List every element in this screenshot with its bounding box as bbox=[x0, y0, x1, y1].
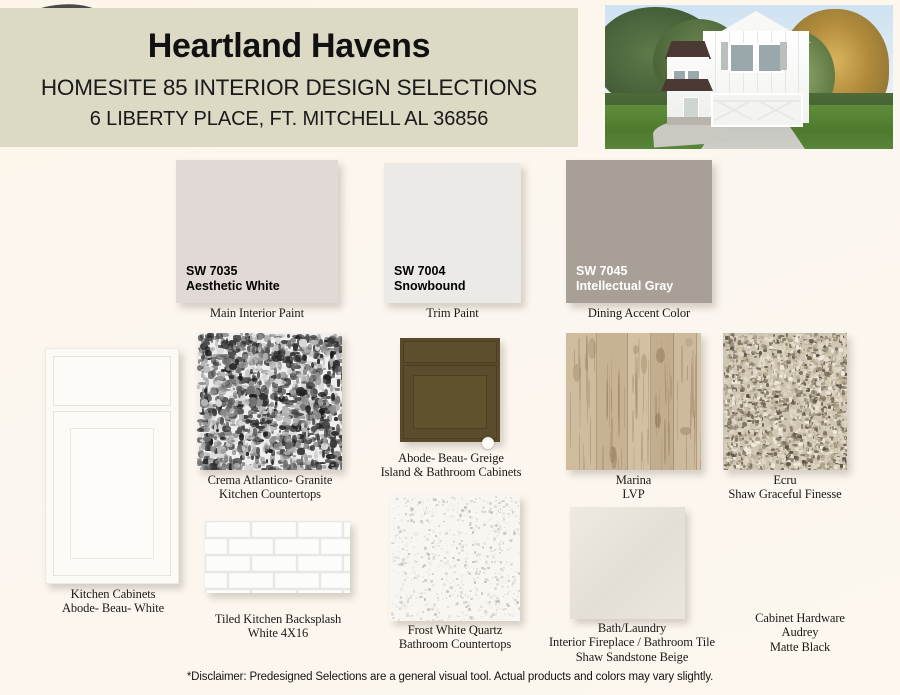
caption-quartz: Frost White Quartz Bathroom Countertops bbox=[382, 623, 528, 652]
swatch-carpet bbox=[723, 333, 847, 470]
caption-kitchen-cabinets-l2: Abode- Beau- White bbox=[32, 601, 194, 615]
swatch-sandstone-tile bbox=[570, 507, 685, 619]
caption-quartz-l1: Frost White Quartz bbox=[382, 623, 528, 637]
swatch-quartz-countertop bbox=[390, 495, 520, 621]
caption-lvp-l1: Marina bbox=[566, 473, 701, 487]
paint-label-main: SW 7035 Aesthetic White bbox=[186, 264, 280, 295]
design-selection-board: Heartland Havens HOMESITE 85 INTERIOR DE… bbox=[0, 0, 900, 695]
paint-code-main: SW 7035 bbox=[186, 264, 280, 279]
swatch-kitchen-cabinet-door bbox=[45, 348, 179, 584]
page-subtitle: HOMESITE 85 INTERIOR DESIGN SELECTIONS bbox=[41, 75, 537, 101]
caption-backsplash-l1: Tiled Kitchen Backsplash bbox=[196, 612, 360, 626]
caption-hardware-l1: Cabinet Hardware bbox=[718, 611, 882, 625]
caption-hardware-l3: Matte Black bbox=[718, 640, 882, 654]
caption-sandstone: Bath/Laundry Interior Fireplace / Bathro… bbox=[543, 621, 721, 664]
caption-granite: Crema Atlantico- Granite Kitchen Counter… bbox=[190, 473, 350, 502]
paint-name-main: Aesthetic White bbox=[186, 279, 280, 294]
swatch-granite-countertop bbox=[197, 333, 342, 470]
caption-sandstone-l1: Bath/Laundry bbox=[543, 621, 721, 635]
caption-lvp-l2: LVP bbox=[566, 487, 701, 501]
cabinet-knob-icon bbox=[482, 437, 494, 449]
paint-code-accent: SW 7045 bbox=[576, 264, 673, 279]
caption-island-cabinets: Abode- Beau- Greige Island & Bathroom Ca… bbox=[376, 451, 526, 480]
paint-name-accent: Intellectual Gray bbox=[576, 279, 673, 294]
caption-granite-l2: Kitchen Countertops bbox=[190, 487, 350, 501]
caption-backsplash: Tiled Kitchen Backsplash White 4X16 bbox=[196, 612, 360, 641]
caption-backsplash-l2: White 4X16 bbox=[196, 626, 360, 640]
caption-trim-paint: Trim Paint bbox=[384, 306, 521, 320]
paint-label-trim: SW 7004 Snowbound bbox=[394, 264, 466, 295]
paint-swatch-trim: SW 7004 Snowbound bbox=[384, 163, 521, 303]
paint-code-trim: SW 7004 bbox=[394, 264, 466, 279]
swatch-lvp-flooring bbox=[566, 333, 701, 470]
swatch-island-cabinet-door bbox=[400, 338, 500, 442]
caption-carpet-l1: Ecru bbox=[710, 473, 860, 487]
caption-hardware-l2: Audrey bbox=[718, 625, 882, 639]
property-address: 6 LIBERTY PLACE, FT. MITCHELL AL 36856 bbox=[90, 108, 489, 131]
house-elevation-rendering bbox=[605, 5, 893, 149]
caption-sandstone-l3: Shaw Sandstone Beige bbox=[543, 650, 721, 664]
paint-name-trim: Snowbound bbox=[394, 279, 466, 294]
caption-carpet: Ecru Shaw Graceful Finesse bbox=[710, 473, 860, 502]
caption-kitchen-cabinets: Kitchen Cabinets Abode- Beau- White bbox=[32, 587, 194, 616]
caption-hardware: Cabinet Hardware Audrey Matte Black bbox=[718, 611, 882, 654]
caption-main-interior-paint: Main Interior Paint bbox=[176, 306, 338, 320]
caption-quartz-l2: Bathroom Countertops bbox=[382, 637, 528, 651]
caption-carpet-l2: Shaw Graceful Finesse bbox=[710, 487, 860, 501]
caption-granite-l1: Crema Atlantico- Granite bbox=[190, 473, 350, 487]
caption-dining-accent-color: Dining Accent Color bbox=[560, 306, 718, 320]
paint-swatch-main-interior: SW 7035 Aesthetic White bbox=[176, 160, 338, 303]
paint-swatch-dining-accent: SW 7045 Intellectual Gray bbox=[566, 160, 712, 303]
header-band: Heartland Havens HOMESITE 85 INTERIOR DE… bbox=[0, 8, 578, 147]
paint-label-accent: SW 7045 Intellectual Gray bbox=[576, 264, 673, 295]
swatch-subway-tile-backsplash bbox=[205, 521, 350, 593]
caption-lvp: Marina LVP bbox=[566, 473, 701, 502]
page-title: Heartland Havens bbox=[148, 28, 430, 65]
disclaimer-text: *Disclaimer: Predesigned Selections are … bbox=[0, 671, 900, 683]
caption-island-cabinets-l1: Abode- Beau- Greige bbox=[376, 451, 526, 465]
caption-island-cabinets-l2: Island & Bathroom Cabinets bbox=[376, 465, 526, 479]
caption-sandstone-l2: Interior Fireplace / Bathroom Tile bbox=[543, 635, 721, 649]
caption-kitchen-cabinets-l1: Kitchen Cabinets bbox=[32, 587, 194, 601]
